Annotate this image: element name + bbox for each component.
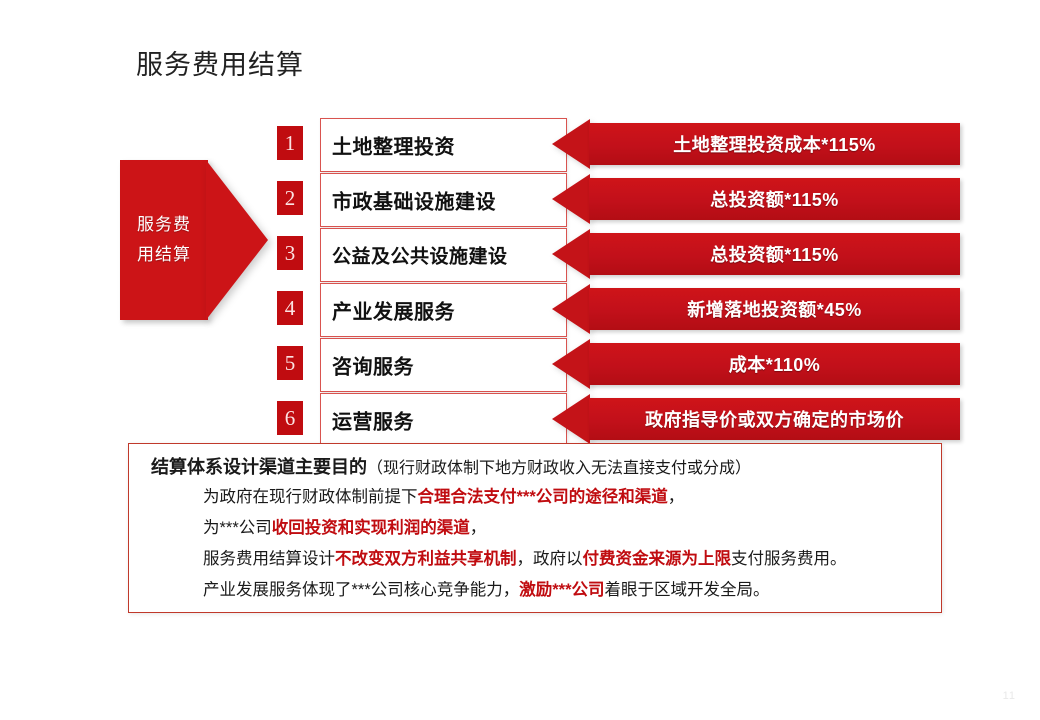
left-arrow-label: 服务费 用结算	[120, 210, 208, 270]
formula-bar: 总投资额*115%	[589, 178, 960, 220]
summary-note-box: 结算体系设计渠道主要目的（现行财政体制下地方财政收入无法直接支付或分成） 为政府…	[128, 443, 942, 613]
list-item[interactable]: 5 咨询服务	[277, 338, 567, 390]
item-card[interactable]: 土地整理投资	[320, 118, 567, 172]
list-item[interactable]: 2 市政基础设施建设	[277, 173, 567, 225]
item-card[interactable]: 公益及公共设施建设	[320, 228, 567, 282]
note-plain-text: ，	[470, 519, 487, 537]
arrow-left-icon	[552, 394, 590, 444]
item-card[interactable]: 咨询服务	[320, 338, 567, 392]
formula-banner[interactable]: 新增落地投资额*45%	[552, 283, 960, 335]
note-highlight-text: 付费资金来源为上限	[583, 550, 732, 568]
list-item[interactable]: 1 土地整理投资	[277, 118, 567, 170]
list-item[interactable]: 6 运营服务	[277, 393, 567, 445]
item-label: 市政基础设施建设	[332, 186, 496, 215]
note-plain-text: 为***公司	[203, 519, 272, 537]
formula-bar: 成本*110%	[589, 343, 960, 385]
formula-bar: 土地整理投资成本*115%	[589, 123, 960, 165]
formula-banner[interactable]: 总投资额*115%	[552, 228, 960, 280]
formula-label: 政府指导价或双方确定的市场价	[589, 406, 960, 432]
formula-bar: 新增落地投资额*45%	[589, 288, 960, 330]
note-plain-text: ，	[668, 488, 685, 506]
formula-banner-list: 土地整理投资成本*115% 总投资额*115% 总投资额*115% 新增落地投资…	[552, 118, 960, 448]
item-label: 运营服务	[332, 406, 414, 435]
list-item[interactable]: 4 产业发展服务	[277, 283, 567, 335]
item-label: 产业发展服务	[332, 296, 455, 325]
note-plain-text: 服务费用结算设计	[203, 550, 335, 568]
list-item[interactable]: 3 公益及公共设施建设	[277, 228, 567, 280]
note-highlight-text: 激励***公司	[519, 581, 604, 599]
note-plain-text: 支付服务费用。	[731, 550, 847, 568]
item-number-badge: 5	[277, 346, 303, 380]
note-heading-parenthetical: （现行财政体制下地方财政收入无法直接支付或分成）	[367, 460, 751, 477]
formula-label: 总投资额*115%	[589, 241, 960, 267]
formula-bar: 总投资额*115%	[589, 233, 960, 275]
item-label: 公益及公共设施建设	[332, 242, 508, 269]
arrow-left-icon	[552, 229, 590, 279]
page-number: 11	[1003, 690, 1016, 702]
item-card[interactable]: 运营服务	[320, 393, 567, 447]
note-line: 为***公司收回投资和实现利润的渠道，	[203, 513, 931, 544]
arrow-left-icon	[552, 339, 590, 389]
note-heading: 结算体系设计渠道主要目的（现行财政体制下地方财政收入无法直接支付或分成）	[151, 453, 751, 479]
item-number-badge: 1	[277, 126, 303, 160]
slide-canvas: 服务费用结算 服务费 用结算 1 土地整理投资 2 市政基础设施建设 3	[0, 0, 1040, 720]
item-number-badge: 2	[277, 181, 303, 215]
item-card[interactable]: 市政基础设施建设	[320, 173, 567, 227]
page-title: 服务费用结算	[136, 48, 304, 82]
item-label: 土地整理投资	[332, 131, 455, 160]
left-arrow-shape: 服务费 用结算	[120, 160, 270, 330]
formula-banner[interactable]: 总投资额*115%	[552, 173, 960, 225]
formula-label: 新增落地投资额*45%	[589, 296, 960, 322]
item-number-badge: 6	[277, 401, 303, 435]
service-item-list: 1 土地整理投资 2 市政基础设施建设 3 公益及公共设施建设 4 产业发展服务…	[277, 118, 567, 448]
note-line: 产业发展服务体现了***公司核心竞争能力，激励***公司着眼于区域开发全局。	[203, 575, 931, 606]
formula-bar: 政府指导价或双方确定的市场价	[589, 398, 960, 440]
item-number-badge: 4	[277, 291, 303, 325]
formula-label: 土地整理投资成本*115%	[589, 131, 960, 157]
item-label: 咨询服务	[332, 351, 414, 380]
note-highlight-text: 收回投资和实现利润的渠道	[272, 519, 470, 537]
formula-banner[interactable]: 政府指导价或双方确定的市场价	[552, 393, 960, 445]
note-line: 为政府在现行财政体制前提下合理合法支付***公司的途径和渠道，	[203, 482, 931, 513]
note-body: 为政府在现行财政体制前提下合理合法支付***公司的途径和渠道，为***公司收回投…	[203, 482, 931, 606]
left-arrow-label-line2: 用结算	[120, 240, 208, 270]
left-arrow-head-icon	[206, 160, 268, 320]
formula-label: 成本*110%	[589, 351, 960, 377]
item-number-badge: 3	[277, 236, 303, 270]
note-heading-bold: 结算体系设计渠道主要目的	[151, 457, 367, 477]
arrow-left-icon	[552, 284, 590, 334]
left-arrow-body: 服务费 用结算	[120, 160, 208, 320]
note-plain-text: 着眼于区域开发全局。	[605, 581, 770, 599]
formula-banner[interactable]: 成本*110%	[552, 338, 960, 390]
note-highlight-text: 不改变双方利益共享机制	[335, 550, 517, 568]
note-plain-text: 为政府在现行财政体制前提下	[203, 488, 418, 506]
note-plain-text: 产业发展服务体现了***公司核心竞争能力，	[203, 581, 519, 599]
note-plain-text: ，政府以	[517, 550, 583, 568]
arrow-left-icon	[552, 119, 590, 169]
note-highlight-text: 合理合法支付***公司的途径和渠道	[418, 488, 668, 506]
item-card[interactable]: 产业发展服务	[320, 283, 567, 337]
arrow-left-icon	[552, 174, 590, 224]
left-arrow-label-line1: 服务费	[120, 210, 208, 240]
formula-label: 总投资额*115%	[589, 186, 960, 212]
formula-banner[interactable]: 土地整理投资成本*115%	[552, 118, 960, 170]
note-line: 服务费用结算设计不改变双方利益共享机制，政府以付费资金来源为上限支付服务费用。	[203, 544, 931, 575]
